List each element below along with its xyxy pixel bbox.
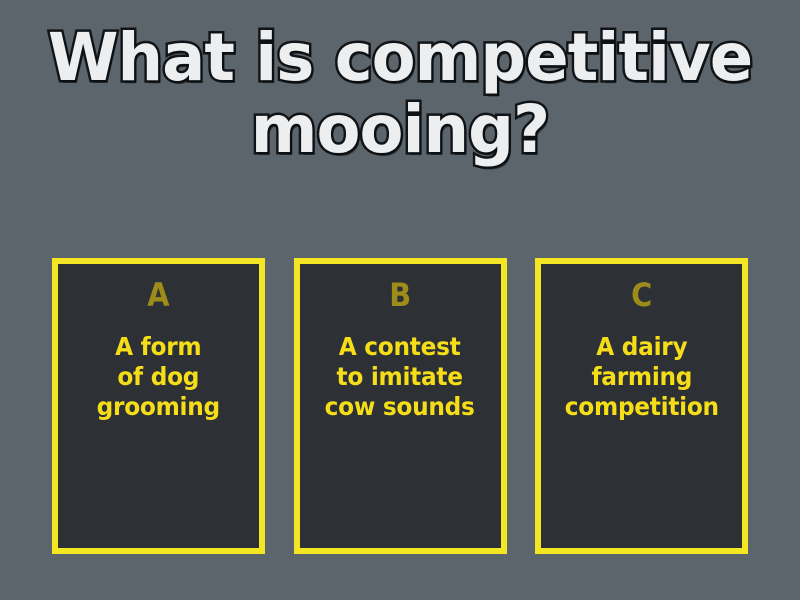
answer-a-line-3: grooming: [97, 392, 220, 422]
answer-text-b: A contest to imitate cow sounds: [319, 332, 480, 422]
answer-card-a[interactable]: A A form of dog grooming: [52, 258, 265, 554]
answer-b-line-3: cow sounds: [325, 392, 475, 422]
quiz-slide: What is competitive mooing? A A form of …: [0, 0, 800, 600]
answer-c-line-1: A dairy: [564, 332, 718, 362]
answer-text-a: A form of dog grooming: [91, 332, 225, 422]
answer-card-c[interactable]: C A dairy farming competition: [535, 258, 748, 554]
answer-letter-a: A: [147, 278, 169, 312]
question-line-2: mooing?: [12, 94, 788, 166]
answer-b-line-2: to imitate: [325, 362, 475, 392]
answer-letter-b: B: [389, 278, 411, 312]
answer-text-c: A dairy farming competition: [559, 332, 724, 422]
question-line-1: What is competitive: [12, 22, 788, 94]
answer-a-line-1: A form: [97, 332, 220, 362]
answer-b-line-1: A contest: [325, 332, 475, 362]
answer-letter-c: C: [631, 278, 652, 312]
answer-a-line-2: of dog: [97, 362, 220, 392]
answer-c-line-2: farming: [564, 362, 718, 392]
answer-card-b[interactable]: B A contest to imitate cow sounds: [294, 258, 507, 554]
question-block: What is competitive mooing?: [0, 22, 800, 166]
answer-c-line-3: competition: [564, 392, 718, 422]
answer-options-row: A A form of dog grooming B A contest to …: [52, 258, 748, 554]
